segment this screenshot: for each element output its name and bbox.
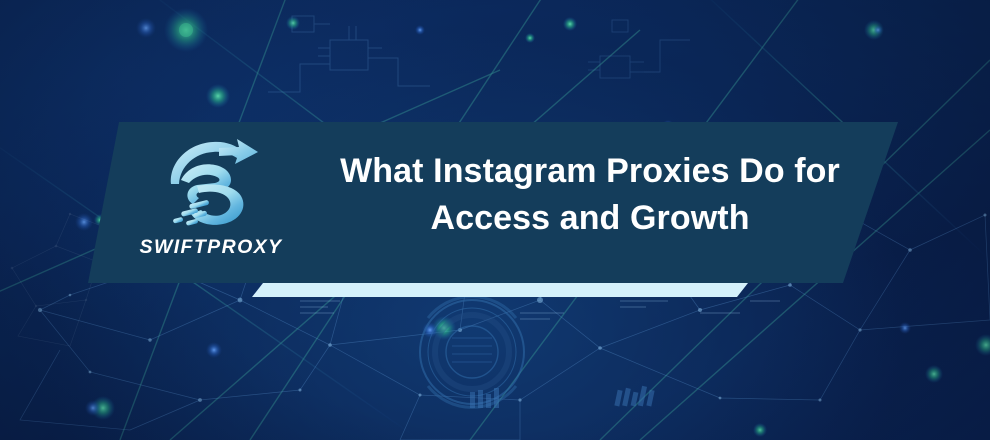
page-title: What Instagram Proxies Do for Access and… xyxy=(330,148,850,242)
brand-wordmark: SWIFTPROXY xyxy=(140,236,283,259)
accent-underline-bar xyxy=(252,283,748,297)
headline-line-2: Access and Growth xyxy=(330,195,850,242)
brand-logo-block: SWIFTPROXY xyxy=(116,134,306,264)
headline-line-1: What Instagram Proxies Do for xyxy=(330,148,850,195)
swiftproxy-s-arrow-logo-icon xyxy=(159,134,263,230)
banner-root: SWIFTPROXY What Instagram Proxies Do for… xyxy=(0,0,990,440)
